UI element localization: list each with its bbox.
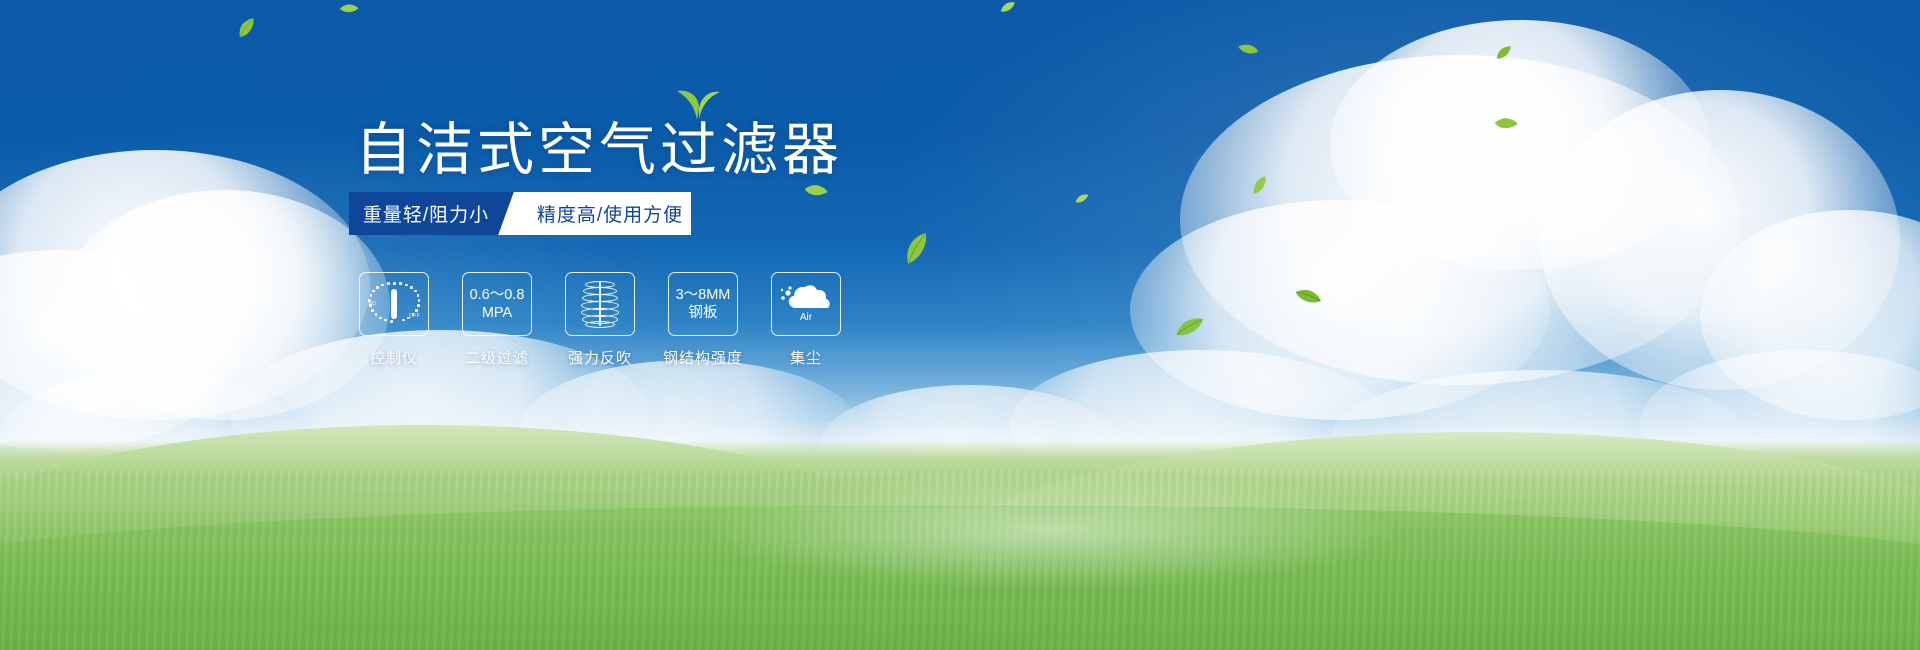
feature-item-two-stage-filtration[interactable]: 0.6～0.8 MPA 二级过滤 (462, 272, 532, 368)
feature-icon-box: Air (771, 272, 841, 336)
tab-high-precision-easy-use[interactable]: 精度高/使用方便 (521, 192, 691, 235)
leaf-sprig-icon (675, 86, 721, 125)
air-dust-cloud-icon: Air (780, 284, 832, 324)
feature-item-dust-collection[interactable]: Air 集尘 (771, 272, 841, 368)
tab-label: 精度高/使用方便 (537, 200, 683, 227)
feature-caption: 二级过滤 (465, 347, 529, 368)
steel-material: 钢板 (689, 304, 718, 322)
feature-caption: 集尘 (790, 347, 822, 368)
feature-item-controller[interactable]: NO OFF (359, 272, 429, 368)
pressure-unit: MPA (482, 304, 512, 322)
hero-banner: 自洁式空气过滤器 重量轻/阻力小 精度高/使用方便 NO (0, 0, 1920, 650)
svg-text:Air: Air (800, 312, 813, 323)
feature-icon-box (565, 272, 635, 336)
feature-list: NO OFF (359, 272, 841, 368)
pressure-value: 0.6～0.8 (470, 286, 525, 304)
tab-lightweight-low-resistance[interactable]: 重量轻/阻力小 (349, 192, 513, 235)
feature-item-steel-structure-strength[interactable]: 3～8MM 钢板 钢结构强度 (668, 272, 738, 368)
tab-label: 重量轻/阻力小 (363, 200, 489, 227)
banner-content: 自洁式空气过滤器 重量轻/阻力小 精度高/使用方便 NO (0, 0, 1920, 650)
page-title: 自洁式空气过滤器 (355, 118, 843, 182)
feature-icon-box: 3～8MM 钢板 (668, 272, 738, 336)
feature-tabs: 重量轻/阻力小 精度高/使用方便 (349, 192, 691, 235)
steel-thickness: 3～8MM (676, 286, 731, 304)
feature-caption: 控制仪 (370, 347, 418, 368)
feature-caption: 强力反吹 (568, 347, 632, 368)
feature-caption: 钢结构强度 (663, 347, 743, 368)
control-dial-icon: NO OFF (369, 282, 419, 326)
filter-cartridge-icon (577, 280, 623, 328)
feature-icon-box: 0.6～0.8 MPA (462, 272, 532, 336)
feature-icon-box: NO OFF (359, 272, 429, 336)
feature-item-strong-backblow[interactable]: 强力反吹 (565, 272, 635, 368)
